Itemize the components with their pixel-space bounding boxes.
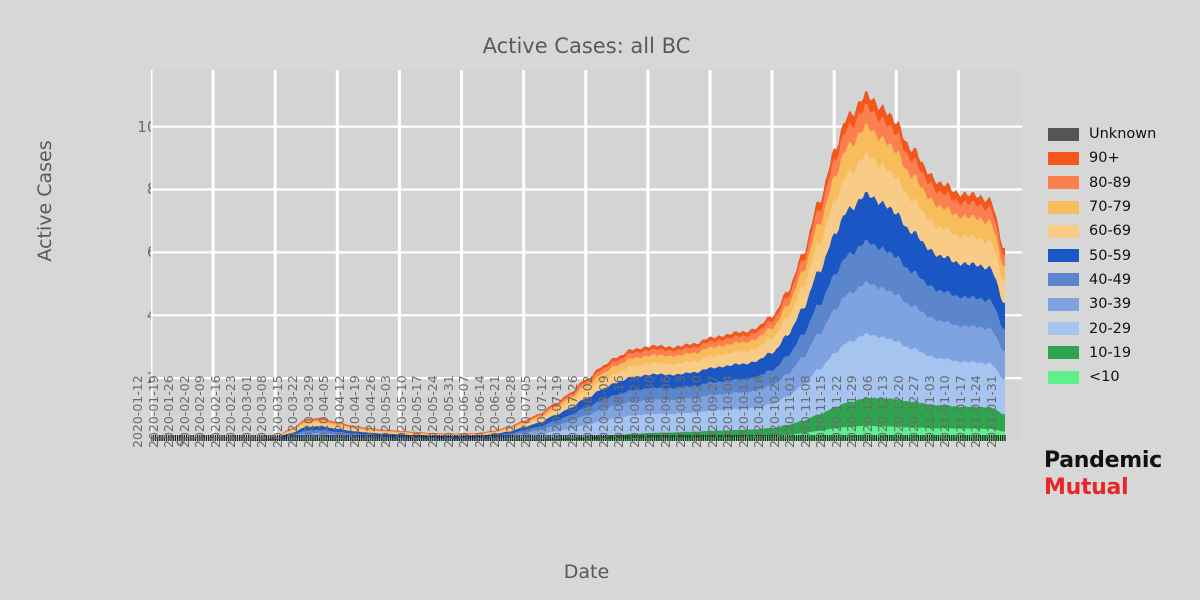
x-tick-label: 2020-06-07 <box>456 375 471 448</box>
x-tick-label: 2020-04-05 <box>316 375 331 448</box>
x-tick-label: 2020-10-18 <box>751 375 766 448</box>
x-tick-label: 2020-11-29 <box>844 375 859 448</box>
legend-item-label: Unknown <box>1089 126 1156 142</box>
x-tick-label: 2020-06-28 <box>503 375 518 448</box>
x-tick-label: 2020-11-22 <box>829 375 844 448</box>
legend-color-swatch <box>1048 346 1079 359</box>
x-tick-label: 2020-02-16 <box>208 375 223 448</box>
legend-item-label: 80-89 <box>1089 175 1131 191</box>
x-tick-label: 2020-03-08 <box>254 375 269 448</box>
x-tick-label: 2020-12-27 <box>906 375 921 448</box>
x-tick-label: 2020-01-26 <box>161 375 176 448</box>
x-tick-label: 2020-07-05 <box>518 375 533 448</box>
x-tick-label: 2020-04-19 <box>347 375 362 448</box>
legend-item[interactable]: 60-69 <box>1048 219 1156 243</box>
x-tick-label: 2020-08-23 <box>627 375 642 448</box>
x-tick-label: 2020-09-27 <box>705 375 720 448</box>
x-tick-label: 2020-11-08 <box>798 375 813 448</box>
x-tick-label: 2020-08-30 <box>642 375 657 448</box>
chart-figure: Active Cases: all BC Active Cases 020004… <box>0 0 1200 600</box>
x-tick-label: 2020-03-01 <box>239 375 254 448</box>
x-tick-label: 2020-09-20 <box>689 375 704 448</box>
legend-color-swatch <box>1048 298 1079 311</box>
legend-item[interactable]: 40-49 <box>1048 268 1156 292</box>
x-tick-label: 2020-09-06 <box>658 375 673 448</box>
x-tick-label: 2020-08-09 <box>596 375 611 448</box>
x-axis-label: Date <box>151 561 1022 583</box>
legend-color-swatch <box>1048 322 1079 335</box>
x-tick-label: 2020-07-19 <box>549 375 564 448</box>
x-tick-label: 2020-03-22 <box>285 375 300 448</box>
legend-color-swatch <box>1048 128 1079 141</box>
x-tick-label: 2020-12-06 <box>860 375 875 448</box>
legend-color-swatch <box>1048 273 1079 286</box>
legend-item-label: <10 <box>1089 369 1120 385</box>
x-tick-label: 2021-01-03 <box>922 375 937 448</box>
x-tick-label: 2020-09-13 <box>673 375 688 448</box>
x-tick-label: 2021-01-24 <box>968 375 983 448</box>
x-tick-label: 2020-05-17 <box>409 375 424 448</box>
x-tick-label: 2020-04-26 <box>363 375 378 448</box>
x-tick-label: 2020-10-25 <box>767 375 782 448</box>
legend-item[interactable]: 90+ <box>1048 146 1156 170</box>
x-tick-label: 2020-12-20 <box>891 375 906 448</box>
x-tick-label: 2020-12-13 <box>875 375 890 448</box>
x-tick-label: 2020-01-12 <box>130 375 145 448</box>
legend-item[interactable]: 10-19 <box>1048 341 1156 365</box>
legend-color-swatch <box>1048 201 1079 214</box>
x-tick-label: 2020-01-19 <box>146 375 161 448</box>
x-tick-label: 2020-03-15 <box>270 375 285 448</box>
legend-color-swatch <box>1048 176 1079 189</box>
chart-title: Active Cases: all BC <box>151 34 1022 58</box>
legend-color-swatch <box>1048 152 1079 165</box>
legend-item-label: 30-39 <box>1089 296 1131 312</box>
legend-color-swatch <box>1048 371 1079 384</box>
x-tick-label: 2020-02-02 <box>177 375 192 448</box>
legend-item-label: 40-49 <box>1089 272 1131 288</box>
x-tick-label: 2021-01-17 <box>953 375 968 448</box>
legend-item[interactable]: 20-29 <box>1048 316 1156 340</box>
legend-item-label: 70-79 <box>1089 199 1131 215</box>
legend-item[interactable]: 80-89 <box>1048 171 1156 195</box>
legend-color-swatch <box>1048 249 1079 262</box>
brand-pandemic-text: Pandemic <box>1044 448 1162 473</box>
x-tick-label: 2020-08-16 <box>611 375 626 448</box>
x-tick-label: 2020-10-11 <box>736 375 751 448</box>
x-tick-label: 2020-11-01 <box>782 375 797 448</box>
x-tick-label: 2020-07-12 <box>534 375 549 448</box>
x-tick-label: 2020-05-10 <box>394 375 409 448</box>
x-tick-label: 2020-11-15 <box>813 375 828 448</box>
legend-item-label: 50-59 <box>1089 248 1131 264</box>
legend-item-label: 60-69 <box>1089 223 1131 239</box>
x-tick-label: 2020-05-24 <box>425 375 440 448</box>
y-axis-label: Active Cases <box>34 111 56 291</box>
legend-item[interactable]: 50-59 <box>1048 243 1156 267</box>
x-tick-label: 2020-02-09 <box>192 375 207 448</box>
legend-item-label: 10-19 <box>1089 345 1131 361</box>
x-tick-label: 2020-06-14 <box>472 375 487 448</box>
x-tick-label: 2021-01-10 <box>937 375 952 448</box>
x-tick-label: 2020-10-04 <box>720 375 735 448</box>
x-tick-label: 2020-07-26 <box>565 375 580 448</box>
legend-item[interactable]: <10 <box>1048 365 1156 389</box>
legend-item-label: 20-29 <box>1089 321 1131 337</box>
x-tick-label: 2020-08-02 <box>580 375 595 448</box>
legend-item[interactable]: 30-39 <box>1048 292 1156 316</box>
x-tick-label: 2020-04-12 <box>332 375 347 448</box>
chart-legend: Unknown90+80-8970-7960-6950-5940-4930-39… <box>1048 122 1156 389</box>
x-tick-label: 2020-03-29 <box>301 375 316 448</box>
legend-color-swatch <box>1048 225 1079 238</box>
x-tick-label: 2020-05-03 <box>378 375 393 448</box>
brand-mutual-text: Mutual <box>1044 475 1128 500</box>
legend-item[interactable]: 70-79 <box>1048 195 1156 219</box>
legend-item[interactable]: Unknown <box>1048 122 1156 146</box>
x-tick-label: 2020-05-31 <box>441 375 456 448</box>
x-tick-label: 2021-01-31 <box>984 375 999 448</box>
legend-item-label: 90+ <box>1089 150 1120 166</box>
x-tick-label: 2020-06-21 <box>487 375 502 448</box>
x-tick-label: 2020-02-23 <box>223 375 238 448</box>
